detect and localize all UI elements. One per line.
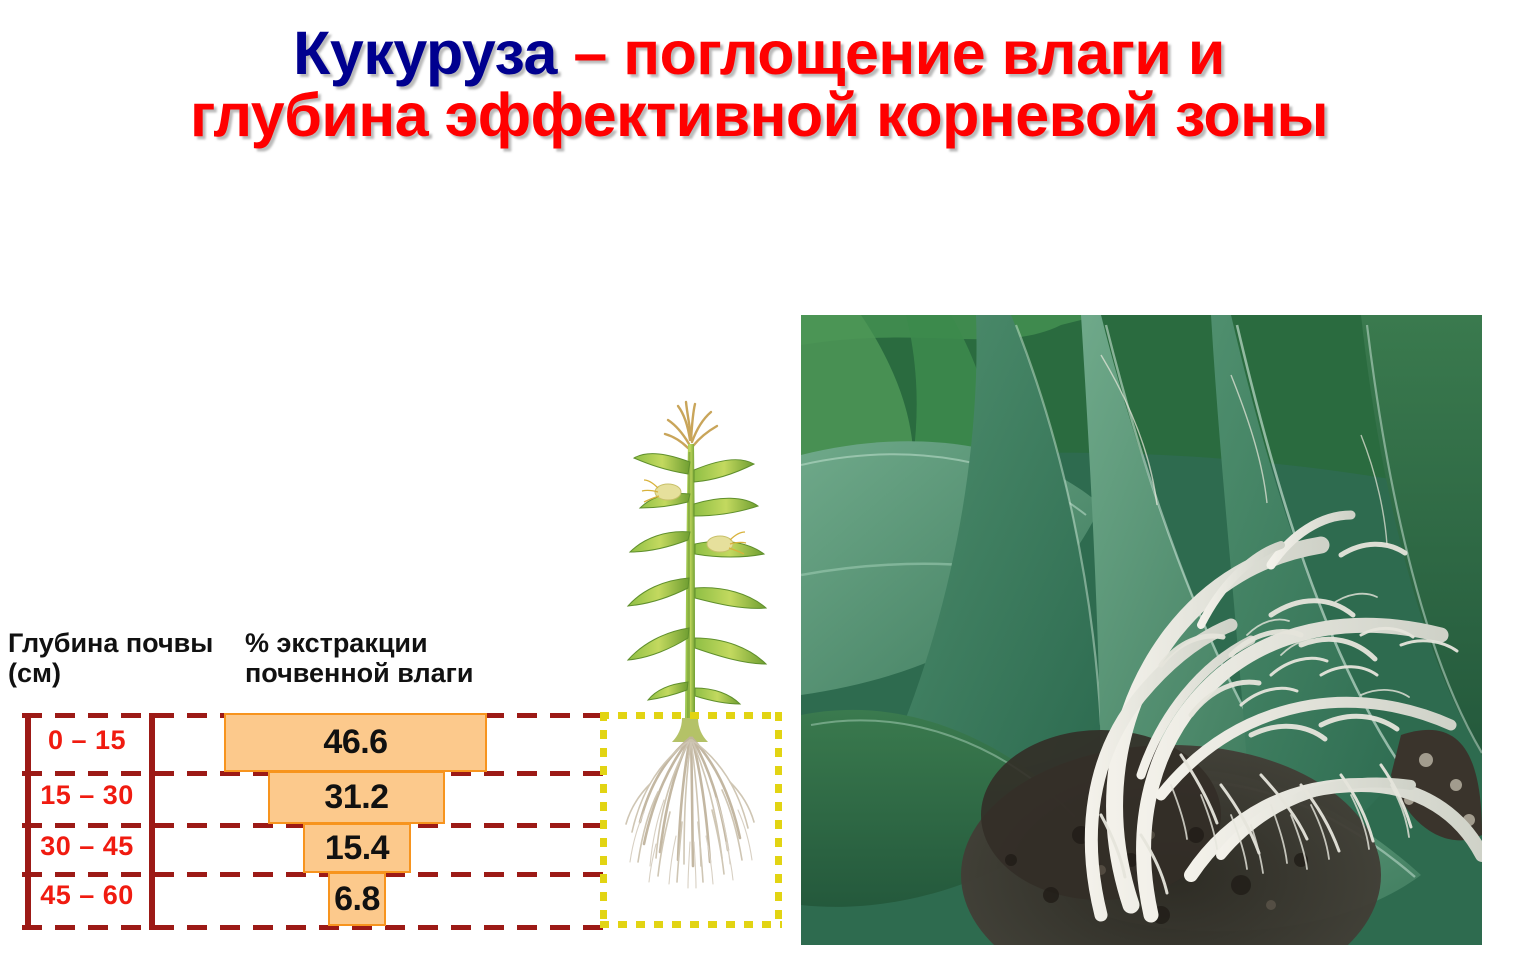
chart-header-extraction-line1: % экстракции bbox=[245, 628, 474, 658]
corn-plant-illustration bbox=[598, 392, 790, 948]
soil-moisture-extraction-chart: Глубина почвы (см) % экстракции почвенно… bbox=[0, 628, 620, 946]
title-line-2: глубина эффективной корневой зоны bbox=[0, 84, 1518, 146]
corn-root-photograph bbox=[801, 315, 1482, 945]
bar-45-60: 6.8 bbox=[328, 872, 386, 926]
axis-rule-middle bbox=[149, 713, 155, 930]
depth-label: 45 – 60 bbox=[25, 880, 149, 911]
chart-header-extraction: % экстракции почвенной влаги bbox=[245, 628, 474, 688]
title-line-1-red: – поглощение влаги и bbox=[557, 19, 1225, 87]
gridline bbox=[22, 925, 606, 930]
depth-label: 15 – 30 bbox=[25, 780, 149, 811]
chart-header-depth-units: (см) bbox=[8, 658, 213, 688]
chart-header-depth: Глубина почвы (см) bbox=[8, 628, 213, 688]
depth-label: 0 – 15 bbox=[25, 725, 149, 756]
depth-label: 30 – 45 bbox=[25, 831, 149, 862]
slide-title: Кукуруза – поглощение влаги и глубина эф… bbox=[0, 22, 1518, 146]
chart-header-depth-line1: Глубина почвы bbox=[8, 628, 213, 658]
bar-15-30: 31.2 bbox=[268, 771, 445, 824]
title-word-kukuruza: Кукуруза bbox=[293, 19, 557, 87]
title-line-1: Кукуруза – поглощение влаги и bbox=[0, 22, 1518, 84]
chart-header-extraction-line2: почвенной влаги bbox=[245, 658, 474, 688]
effective-root-zone-highlight bbox=[600, 712, 782, 928]
bar-30-45: 15.4 bbox=[303, 823, 411, 873]
bar-0-15: 46.6 bbox=[224, 713, 487, 772]
